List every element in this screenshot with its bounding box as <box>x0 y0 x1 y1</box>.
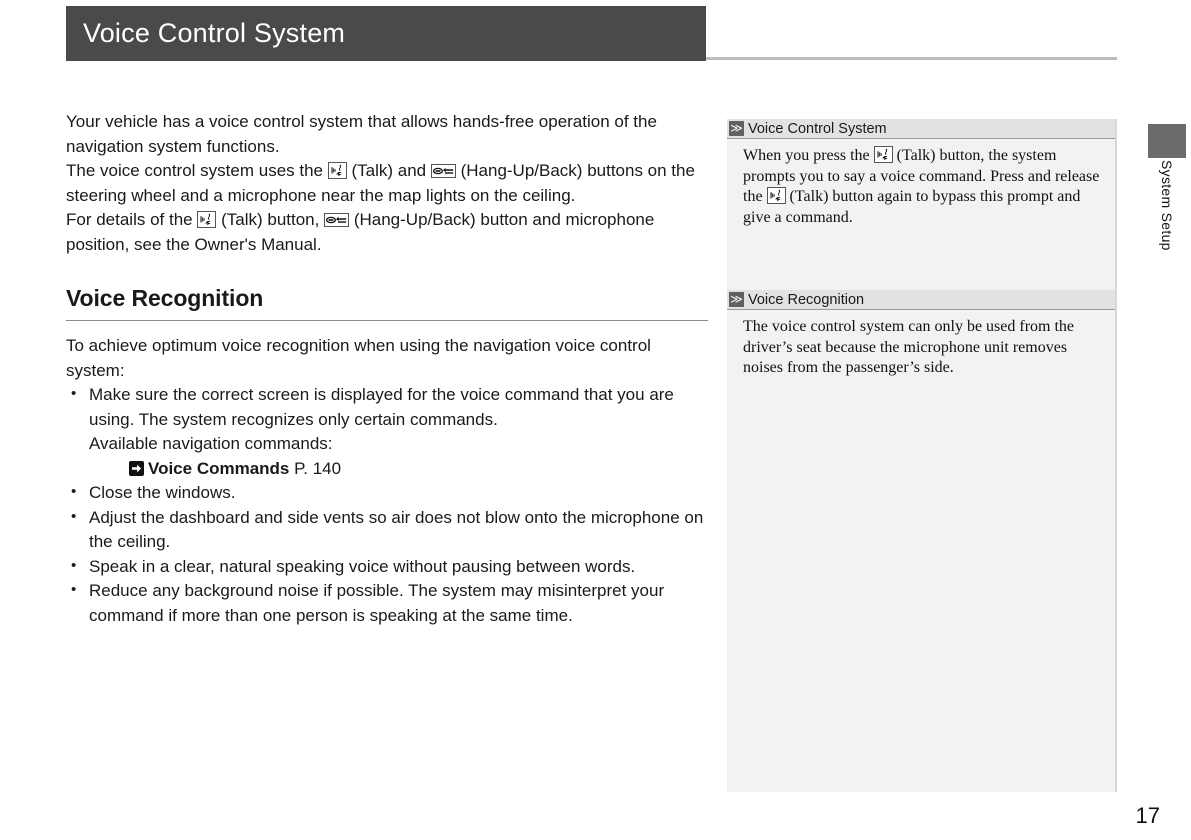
intro-line-5-text-b: (Talk) button, <box>221 210 319 229</box>
chapter-tab-block <box>1148 124 1186 158</box>
talk-button-icon <box>874 146 893 163</box>
side-note-header: ≫ Voice Recognition <box>727 290 1115 310</box>
side-note-body-text-a: The voice control system can only be use… <box>743 318 1074 376</box>
list-item-text: Make sure the correct screen is displaye… <box>89 385 674 429</box>
intro-line-2-text: navigation system functions. <box>66 137 280 156</box>
side-note-title: Voice Recognition <box>748 292 864 308</box>
side-note-body-text-c: (Talk) button again to bypass this promp… <box>743 188 1080 226</box>
side-note-panel: ≫ Voice Control System When you press th… <box>727 119 1117 792</box>
intro-line-2: navigation system functions. <box>66 135 711 160</box>
chapter-tab-label: System Setup <box>1148 160 1186 290</box>
side-note-voice-control-system: ≫ Voice Control System When you press th… <box>727 119 1115 228</box>
intro-line-3: The voice control system uses the (Talk)… <box>66 159 711 184</box>
hang-up-back-button-icon <box>431 164 456 178</box>
cross-reference-link[interactable]: Voice Commands P. 140 <box>89 457 711 482</box>
list-item-text: Adjust the dashboard and side vents so a… <box>89 508 703 552</box>
section-divider-rule <box>66 320 708 321</box>
list-item-text: Speak in a clear, natural speaking voice… <box>89 557 635 576</box>
list-item: Make sure the correct screen is displaye… <box>66 383 711 481</box>
list-item: Adjust the dashboard and side vents so a… <box>66 506 711 555</box>
list-item-text: Close the windows. <box>89 483 235 502</box>
intro-line-5-text-a: For details of the <box>66 210 193 229</box>
intro-line-4: steering wheel and a microphone near the… <box>66 184 711 209</box>
intro-line-3-text-a: The voice control system uses the <box>66 161 323 180</box>
talk-button-icon <box>767 187 786 204</box>
side-note-voice-recognition: ≫ Voice Recognition The voice control sy… <box>727 290 1115 379</box>
double-chevron-icon: ≫ <box>729 121 744 136</box>
main-content-column: Your vehicle has a voice control system … <box>66 110 711 628</box>
intro-line-5-text-c: (Hang-Up/Back) button and microphone <box>354 210 655 229</box>
lead-line-2: system: <box>66 359 711 384</box>
intro-line-3-text-c: (Hang-Up/Back) buttons on the <box>461 161 695 180</box>
side-note-header: ≫ Voice Control System <box>727 119 1115 139</box>
cross-reference-title: Voice Commands <box>148 459 289 478</box>
side-note-body: When you press the (Talk) button, the sy… <box>727 139 1115 228</box>
intro-line-6-text: position, see the Owner's Manual. <box>66 235 322 254</box>
intro-line-3-text-b: (Talk) and <box>351 161 426 180</box>
intro-line-1: Your vehicle has a voice control system … <box>66 110 711 135</box>
side-note-title: Voice Control System <box>748 121 887 137</box>
list-item: Reduce any background noise if possible.… <box>66 579 711 628</box>
lead-line-1: To achieve optimum voice recognition whe… <box>66 334 711 359</box>
talk-button-icon <box>328 162 347 179</box>
voice-recognition-bullet-list: Make sure the correct screen is displaye… <box>66 383 711 628</box>
intro-paragraph-block: Your vehicle has a voice control system … <box>66 110 711 257</box>
cross-reference-page: P. 140 <box>294 459 341 478</box>
list-item: Close the windows. <box>66 481 711 506</box>
side-note-body-text-a: When you press the <box>743 147 870 164</box>
hang-up-back-button-icon <box>324 213 349 227</box>
page-header-bar: Voice Control System <box>66 6 706 61</box>
intro-line-4-text: steering wheel and a microphone near the… <box>66 186 575 205</box>
header-divider-rule <box>706 57 1117 60</box>
talk-button-icon <box>197 211 216 228</box>
double-chevron-icon: ≫ <box>729 292 744 307</box>
intro-line-5: For details of the (Talk) button, (Hang-… <box>66 208 711 233</box>
intro-line-1-text: Your vehicle has a voice control system … <box>66 112 657 131</box>
list-item-text: Reduce any background noise if possible.… <box>89 581 664 625</box>
intro-line-6: position, see the Owner's Manual. <box>66 233 711 258</box>
list-item: Speak in a clear, natural speaking voice… <box>66 555 711 580</box>
page-number: 17 <box>1136 803 1160 829</box>
section-heading: Voice Recognition <box>66 283 711 312</box>
list-item-subtext: Available navigation commands: <box>89 432 711 457</box>
cross-reference-arrow-icon <box>129 461 144 476</box>
page-title: Voice Control System <box>66 18 345 49</box>
side-note-body: The voice control system can only be use… <box>727 310 1115 379</box>
chapter-tab-label-text: System Setup <box>1159 160 1175 251</box>
